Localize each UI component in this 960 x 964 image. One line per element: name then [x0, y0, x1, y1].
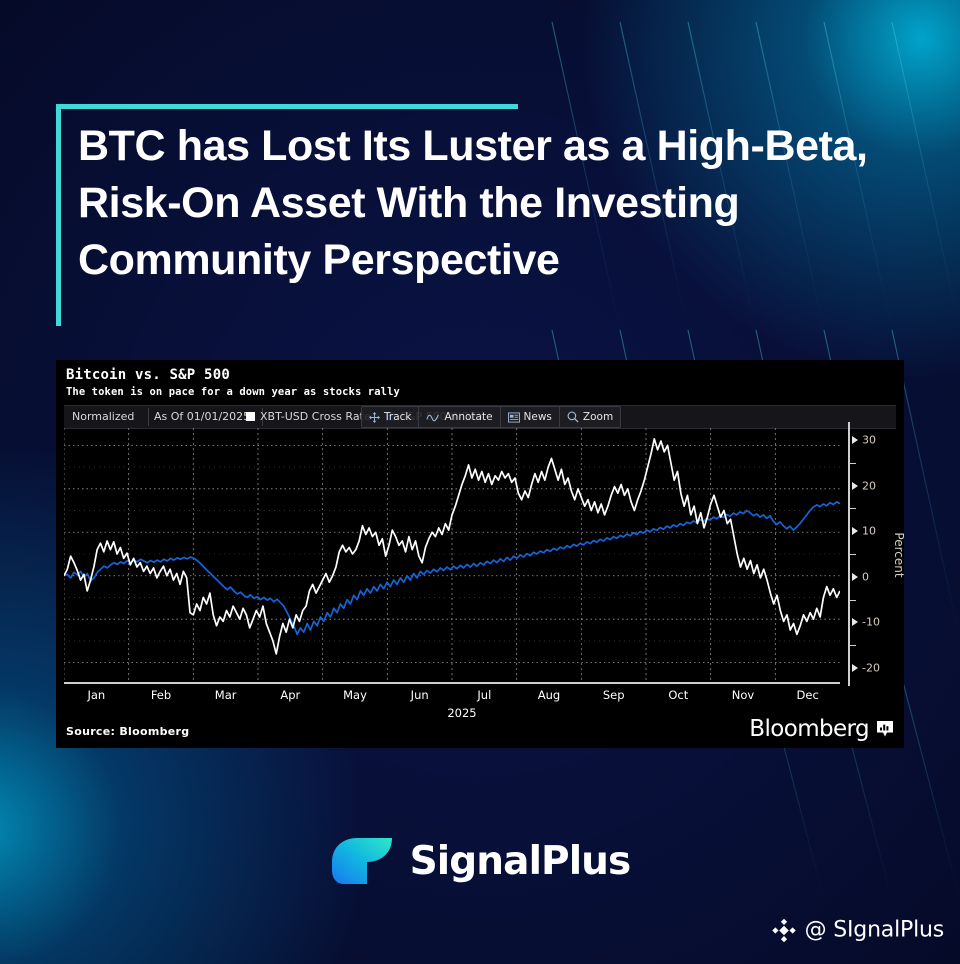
y-tick-label: 10 [862, 525, 876, 538]
newspaper-icon [508, 412, 520, 423]
y-tick-minor [848, 463, 856, 464]
move-crosshair-icon [369, 412, 380, 423]
x-axis-year: 2025 [447, 706, 476, 720]
y-tick-minor [848, 508, 856, 509]
x-tick-label: Jul [477, 688, 491, 702]
y-tick-minor [848, 600, 856, 601]
binance-diamond-icon [772, 918, 796, 942]
x-tick-label: Apr [280, 688, 300, 702]
track-label: Track [384, 411, 411, 423]
bloomberg-wordmark: Bloomberg [749, 716, 869, 742]
y-tick-arrow [852, 664, 858, 672]
bloomberg-branding: Bloomberg [749, 716, 894, 742]
magnifier-icon [567, 411, 579, 423]
news-label: News [524, 411, 552, 423]
zoom-button[interactable]: Zoom [560, 407, 620, 427]
y-tick-minor [848, 645, 856, 646]
annotate-label: Annotate [444, 411, 492, 423]
page-title: BTC has Lost Its Luster as a High-Beta, … [56, 104, 876, 290]
x-tick-label: Dec [797, 688, 819, 702]
control-divider-1 [148, 408, 149, 426]
accent-bar-left [56, 104, 61, 326]
signalplus-wordmark: SignalPlus [410, 839, 631, 884]
x-axis: 2025 JanFebMarAprMayJunJulAugSepOctNovDe… [64, 682, 840, 718]
legend-swatch-btc [246, 412, 255, 421]
chart-title: Bitcoin vs. S&P 500 [66, 367, 230, 383]
y-axis-title: Percent [892, 532, 904, 577]
y-tick-label: 20 [862, 479, 876, 492]
signalplus-branding: SignalPlus [0, 822, 960, 900]
accent-bar-top [56, 104, 518, 109]
y-tick-label: -10 [862, 616, 880, 629]
chart-plot-area [64, 428, 840, 680]
y-tick-minor [848, 554, 856, 555]
x-tick-label: Jan [87, 688, 105, 702]
x-tick-label: Oct [668, 688, 688, 702]
series-line-btc [64, 439, 840, 654]
headline-block: BTC has Lost Its Luster as a High-Beta, … [56, 104, 876, 290]
bloomberg-terminal-icon [876, 720, 894, 738]
annotate-button[interactable]: Annotate [419, 407, 500, 427]
social-handle[interactable]: @ SIgnalPlus [772, 918, 944, 943]
normalized-dropdown[interactable]: Normalized [72, 406, 134, 428]
y-tick-arrow [852, 573, 858, 581]
x-tick-label: Mar [215, 688, 237, 702]
x-tick-label: Jun [411, 688, 429, 702]
x-tick-label: Sep [603, 688, 625, 702]
handle-label: @ SIgnalPlus [805, 918, 944, 943]
x-axis-spine [64, 682, 840, 684]
news-button[interactable]: News [501, 407, 560, 427]
chart-subtitle: The token is on pace for a down year as … [66, 386, 400, 398]
signalplus-wave-icon [330, 832, 394, 890]
chart-source: Source: Bloomberg [66, 725, 189, 738]
y-axis: 3020100-10-20 [846, 420, 886, 688]
y-tick-label: -20 [862, 661, 880, 674]
y-tick-label: 30 [862, 434, 876, 447]
bloomberg-chart-panel: Bitcoin vs. S&P 500 The token is on pace… [56, 360, 904, 748]
poster-canvas: BTC has Lost Its Luster as a High-Beta, … [0, 0, 960, 964]
x-tick-label: Aug [538, 688, 560, 702]
legend-item-btc[interactable]: XBT-USD Cross Rate [246, 406, 371, 428]
y-tick-label: 0 [862, 570, 869, 583]
y-tick-arrow [852, 527, 858, 535]
x-tick-label: May [343, 688, 367, 702]
chart-floating-toolbar: Track Annotate News [361, 406, 621, 428]
y-tick-arrow [852, 436, 858, 444]
x-tick-label: Nov [732, 688, 754, 702]
x-tick-label: Feb [151, 688, 171, 702]
squiggle-pen-icon [426, 412, 440, 423]
y-tick-arrow [852, 482, 858, 490]
zoom-label: Zoom [583, 411, 613, 423]
as-of-date-field[interactable]: As Of 01/01/2025 [154, 406, 250, 428]
track-button[interactable]: Track [362, 407, 419, 427]
y-tick-arrow [852, 618, 858, 626]
legend-label-btc: XBT-USD Cross Rate [260, 410, 371, 423]
